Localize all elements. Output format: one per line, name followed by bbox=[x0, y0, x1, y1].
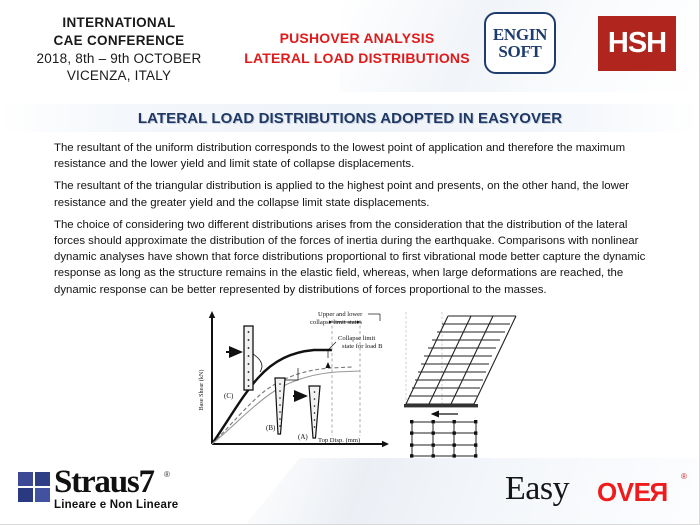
straus7-registered-mark: ® bbox=[164, 470, 170, 479]
conference-name-line2: CAE CONFERENCE bbox=[8, 32, 230, 50]
straus7-squares-icon bbox=[18, 472, 52, 504]
curve-triangular bbox=[212, 371, 360, 444]
paragraph-2: The resultant of the triangular distribu… bbox=[54, 178, 646, 210]
section-banner: LATERAL LOAD DISTRIBUTIONS ADOPTED IN EA… bbox=[0, 104, 700, 132]
curve-label-a: (A) bbox=[298, 433, 308, 441]
conference-info: INTERNATIONAL CAE CONFERENCE 2018, 8th –… bbox=[8, 14, 230, 85]
enginsoft-logo-line1: ENGIN bbox=[493, 26, 547, 43]
annotation-right-line2: state for load B bbox=[342, 343, 383, 350]
load-distribution-a: (A) bbox=[293, 386, 320, 441]
frame-plan-view bbox=[410, 420, 477, 458]
main-title-line2: LATERAL LOAD DISTRIBUTIONS bbox=[232, 48, 482, 68]
annotation-right-line1: Collapse limit bbox=[338, 335, 375, 342]
paragraph-1: The resultant of the uniform distributio… bbox=[54, 140, 646, 172]
paragraph-3: The choice of considering two different … bbox=[54, 217, 646, 298]
enginsoft-logo: ENGIN SOFT bbox=[484, 12, 556, 74]
easyover-over-part2: R bbox=[650, 479, 668, 505]
slide-header: INTERNATIONAL CAE CONFERENCE 2018, 8th –… bbox=[0, 0, 700, 92]
main-title-line1: PUSHOVER ANALYSIS bbox=[232, 28, 482, 48]
load-distribution-b: (B) bbox=[266, 368, 298, 434]
deformed-frame-elevation bbox=[404, 312, 516, 414]
easyover-logo: Easy OVER ® bbox=[505, 472, 685, 512]
conference-location: VICENZA, ITALY bbox=[8, 67, 230, 85]
body-content: The resultant of the uniform distributio… bbox=[54, 140, 646, 304]
conference-name-line1: INTERNATIONAL bbox=[8, 14, 230, 32]
pushover-figure-svg: Base Shear (kN) Top Disp. (mm) bbox=[190, 308, 520, 460]
hsh-logo-text: HSH bbox=[608, 29, 666, 58]
annotation-top-line1: Upper and lower bbox=[318, 311, 363, 318]
annotation-collapse-load-b: Collapse limit state for load B bbox=[325, 335, 383, 368]
straus7-wordmark: Straus7 bbox=[54, 466, 154, 499]
slide-main-title: PUSHOVER ANALYSIS LATERAL LOAD DISTRIBUT… bbox=[232, 28, 482, 69]
presentation-slide: INTERNATIONAL CAE CONFERENCE 2018, 8th –… bbox=[0, 0, 700, 525]
straus7-tagline: Lineare e Non Lineare bbox=[54, 499, 178, 511]
curve-label-c: (C) bbox=[224, 392, 234, 400]
straus7-logo: Straus7 ® Lineare e Non Lineare bbox=[18, 466, 218, 516]
curve-label-b: (B) bbox=[266, 424, 276, 432]
annotation-collapse-limit-states: Upper and lower collapse limit states bbox=[310, 311, 380, 326]
enginsoft-logo-line2: SOFT bbox=[498, 43, 541, 60]
slide-footer: Straus7 ® Lineare e Non Lineare Easy OVE… bbox=[0, 458, 700, 525]
conference-date: 2018, 8th – 9th OCTOBER bbox=[8, 50, 230, 68]
easyover-registered-mark: ® bbox=[681, 472, 687, 481]
y-axis-label: Base Shear (kN) bbox=[198, 370, 205, 411]
easyover-over-text: OVER bbox=[597, 479, 669, 505]
hsh-logo: HSH bbox=[598, 16, 676, 71]
annotation-top-line2: collapse limit states bbox=[310, 319, 362, 326]
x-axis-label: Top Disp. (mm) bbox=[318, 437, 360, 444]
easyover-over-part1: OVE bbox=[597, 477, 650, 507]
pushover-figure: Base Shear (kN) Top Disp. (mm) bbox=[190, 308, 520, 460]
section-banner-title: LATERAL LOAD DISTRIBUTIONS ADOPTED IN EA… bbox=[138, 110, 562, 127]
easyover-easy-text: Easy bbox=[505, 472, 569, 506]
load-distribution-c: (C) bbox=[224, 326, 262, 400]
